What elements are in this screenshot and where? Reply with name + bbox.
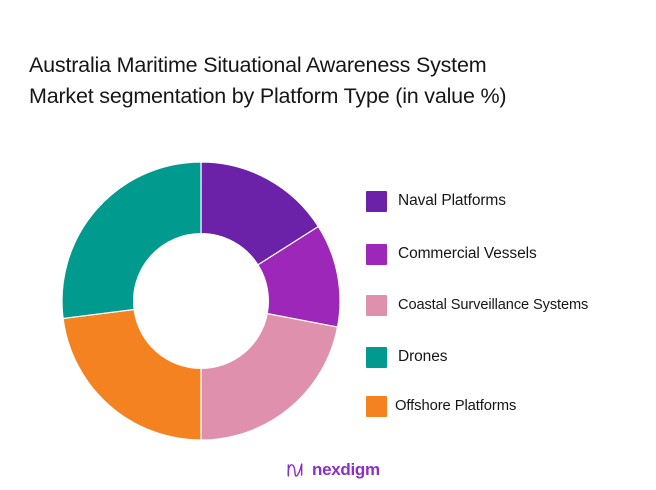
legend-swatch-icon-commercial-vessels <box>366 244 387 265</box>
legend-item-naval-platforms[interactable]: Naval Platforms <box>366 190 506 212</box>
nexdigm-n-logo-icon <box>285 460 305 480</box>
legend-item-offshore-platforms[interactable]: Offshore Platforms <box>366 395 516 417</box>
donut-slice-drones[interactable] <box>62 162 201 318</box>
legend-item-coastal-surveillance-systems[interactable]: Coastal Surveillance Systems <box>366 294 588 316</box>
legend-label-commercial-vessels: Commercial Vessels <box>398 245 537 263</box>
legend-label-naval-platforms: Naval Platforms <box>398 192 506 210</box>
legend-label-coastal-surveillance-systems: Coastal Surveillance Systems <box>398 297 588 313</box>
donut-chart <box>61 161 341 441</box>
brand-name: nexdigm <box>312 460 380 480</box>
legend-item-drones[interactable]: Drones <box>366 346 447 368</box>
legend-swatch-icon-drones <box>366 347 387 368</box>
legend-item-commercial-vessels[interactable]: Commercial Vessels <box>366 243 537 265</box>
legend-swatch-icon-offshore-platforms <box>366 396 387 417</box>
donut-chart-svg <box>61 161 341 441</box>
legend-swatch-icon-naval-platforms <box>366 191 387 212</box>
donut-slice-group <box>62 162 340 440</box>
chart-card: Australia Maritime Situational Awareness… <box>0 0 656 490</box>
legend-label-drones: Drones <box>398 348 447 366</box>
legend-label-offshore-platforms: Offshore Platforms <box>395 398 516 414</box>
donut-slice-offshore-platforms[interactable] <box>63 309 201 440</box>
brand-logo: nexdigm <box>285 458 380 482</box>
donut-slice-coastal-surveillance-systems[interactable] <box>201 314 338 440</box>
page-title: Australia Maritime Situational Awareness… <box>29 50 609 112</box>
legend-swatch-icon-coastal-surveillance-systems <box>366 295 387 316</box>
